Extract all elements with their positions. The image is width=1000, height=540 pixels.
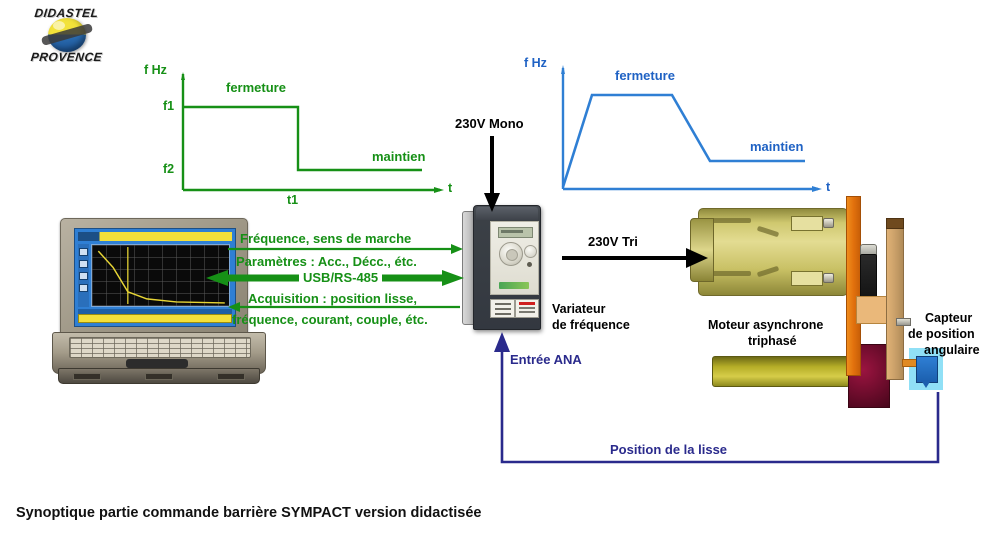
sensor-bracket	[856, 296, 888, 324]
laptop-keyboard[interactable]	[69, 337, 251, 358]
supply-tri-label: 230V Tri	[588, 234, 638, 249]
vfd-navigation-dial[interactable]	[499, 242, 523, 266]
vfd-warning-label	[515, 299, 539, 318]
laptop-screen	[74, 228, 236, 327]
sensor-label-line-3: angulaire	[924, 343, 980, 357]
supply-mono-arrow	[484, 136, 500, 212]
green-chart-level-f1-label: f1	[163, 99, 174, 113]
green-chart-y-axis-label: f Hz	[144, 63, 167, 77]
vfd-control-panel[interactable]	[490, 221, 539, 295]
angular-position-sensor	[916, 356, 938, 383]
blue-chart-x-axis-label: t	[826, 180, 830, 194]
vfd-brand-logo	[499, 282, 529, 289]
vfd-rating-label	[490, 299, 515, 318]
green-chart-time-t1-label: t1	[287, 193, 298, 207]
transmission-shaft	[712, 356, 850, 387]
analog-input-label: Entrée ANA	[510, 352, 582, 367]
motor-label-line-1: Moteur asynchrone	[708, 318, 823, 332]
screen-titlebar	[78, 232, 232, 241]
blue-chart-x-arrow	[812, 186, 822, 192]
diagram-canvas: DIDASTEL PROVENCE f Hz f1 f2 t1 t fermet…	[0, 0, 1000, 540]
vfd-label-line-1: Variateur	[552, 302, 606, 316]
sensor-connector	[921, 380, 931, 388]
acquisition-line-1-label: Acquisition : position lisse,	[248, 291, 417, 306]
green-chart-x-axis-label: t	[448, 181, 452, 195]
variateur-de-frequence-device[interactable]	[462, 205, 544, 330]
blue-chart-fermeture-label: fermeture	[615, 68, 675, 83]
lisse-barrier-arm	[886, 218, 904, 380]
blue-chart-y-arrow	[561, 65, 565, 74]
green-chart-fermeture-label: fermeture	[226, 80, 286, 95]
blue-ramp-chart: f Hz t fermeture maintien	[520, 56, 850, 201]
motor-shaft-housing	[690, 218, 714, 282]
blue-chart-maintien-label: maintien	[750, 139, 803, 154]
logo-bottom-text: PROVENCE	[13, 50, 119, 64]
coupling-body	[860, 254, 877, 298]
supply-tri-arrow	[562, 248, 708, 268]
figure-caption: Synoptique partie commande barrière SYMP…	[16, 505, 481, 521]
vfd-label-line-2: de fréquence	[552, 318, 630, 332]
supply-mono-label: 230V Mono	[455, 116, 524, 131]
laptop-lid	[60, 218, 248, 338]
motor-and-sensor-assembly	[690, 196, 995, 411]
lisse-arm-cap	[886, 218, 904, 229]
green-chart-level-f2-label: f2	[163, 162, 174, 176]
vfd-top-cover	[476, 207, 538, 220]
green-chart-maintien-label: maintien	[372, 149, 425, 164]
laptop-computer[interactable]	[52, 218, 264, 388]
command-line-1-label: Fréquence, sens de marche	[240, 231, 411, 246]
usb-rs485-label: USB/RS-485	[303, 270, 378, 285]
vfd-lcd-display	[498, 227, 533, 238]
vfd-body	[473, 205, 541, 330]
sensor-label-line-2: de position	[908, 327, 975, 341]
acquisition-line-2-label: fréquence, courant, couple, étc.	[232, 312, 428, 327]
sensor-label-line-1: Capteur	[925, 311, 972, 325]
vfd-status-led	[527, 262, 532, 267]
screen-taskbar	[78, 314, 232, 323]
motor-label-line-2: triphasé	[748, 334, 797, 348]
blue-chart-y-axis-label: f Hz	[524, 56, 547, 70]
screen-toolbar	[78, 244, 89, 307]
position-feedback-label: Position de la lisse	[610, 442, 727, 457]
didastel-provence-logo: DIDASTEL PROVENCE	[14, 6, 119, 68]
vfd-selector-knob[interactable]	[524, 245, 537, 258]
green-chart-y-arrow	[181, 72, 185, 80]
laptop-front-edge	[58, 368, 260, 384]
globe-icon	[48, 18, 86, 52]
bracket-screw	[896, 318, 911, 326]
green-chart-x-arrow	[434, 187, 444, 193]
screen-plot-area	[91, 244, 230, 307]
mounting-flange	[846, 196, 861, 376]
motor-body	[698, 208, 848, 296]
green-step-chart: f Hz f1 f2 t1 t fermeture maintien	[150, 66, 470, 216]
laptop-touchpad[interactable]	[126, 359, 188, 368]
command-line-2-label: Paramètres : Acc., Décc., étc.	[236, 254, 417, 269]
